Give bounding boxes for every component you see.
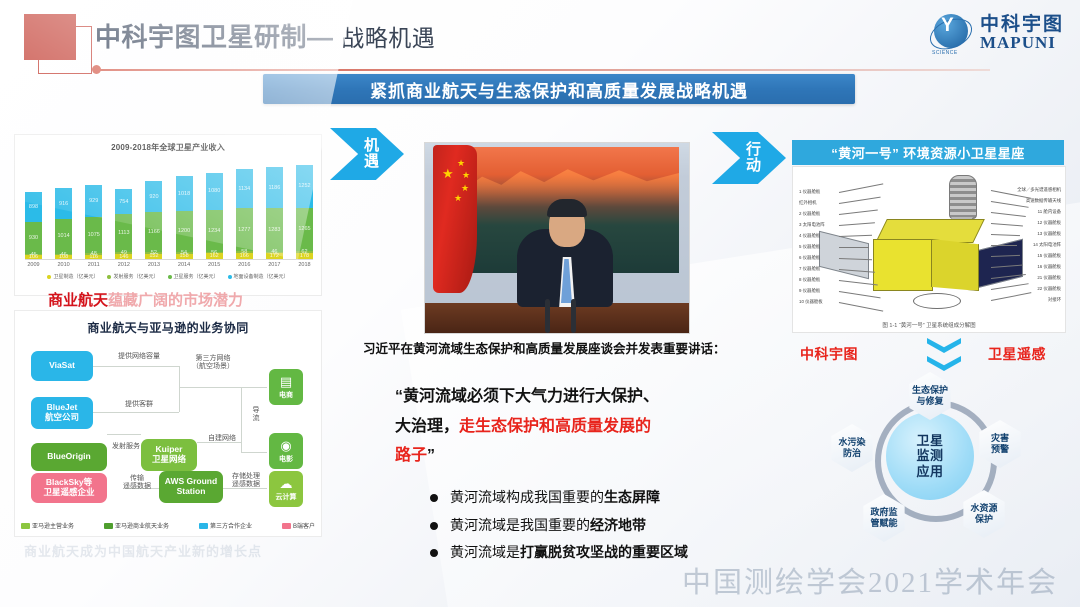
- chart-bar: 1018120054158: [176, 176, 193, 259]
- biz-connector: [179, 387, 241, 388]
- solar-panel-left: [819, 231, 869, 279]
- satellite-body-assembly: [865, 219, 993, 293]
- chart-bar-segment: 166: [236, 253, 253, 259]
- biz-connector: [179, 366, 180, 412]
- chart-legend-item: 卫星服务（亿美元）: [168, 273, 219, 280]
- chart-legend-item: 卫星制造（亿美元）: [47, 273, 98, 280]
- satellite-leader-line: [839, 210, 878, 215]
- chart-bar-segment: 1200: [176, 211, 193, 252]
- biz-legend-swatch: [104, 523, 113, 529]
- node-bluejet-label: BlueJet航空公司: [45, 403, 79, 423]
- chart-x-tick: 2012: [115, 262, 132, 268]
- biz-connector: [241, 452, 267, 453]
- biz-legend-label: 第三方合作企业: [210, 521, 252, 530]
- quote-line-3-tail: ”: [427, 447, 435, 464]
- chart-bar-segment: 1277: [236, 208, 253, 252]
- chart-bar: 1186128346172: [266, 167, 283, 259]
- ghost-caption-left: 商业航天成为中国航天产业新的增长点: [24, 541, 262, 560]
- satellite-leader-line: [991, 212, 1026, 217]
- satellite-callout-label: 4 仪器舱板: [799, 233, 820, 239]
- biz-diagram-legend: 亚马逊主营业务亚马逊商业航天业务第三方合作企业B端客户: [21, 521, 315, 530]
- satellite-callout-label: 15 仪器舱板: [1037, 253, 1061, 259]
- quote-line-3: 路子”: [395, 441, 747, 471]
- edge-label-traffic-diversion: 导流: [247, 407, 265, 424]
- chart-value-label: 1252: [296, 183, 313, 189]
- film-reel-icon: ◉: [280, 439, 291, 452]
- satellite-leader-line: [839, 247, 869, 248]
- node-blueorigin-label: BlueOrigin: [47, 452, 90, 462]
- chart-legend: 卫星制造（亿美元）发射服务（亿美元）卫星服务（亿美元）地面设备制造（亿美元）: [15, 273, 321, 280]
- satellite-callout-label: 12 仪器舱板: [1037, 220, 1061, 226]
- chart-value-label: 754: [115, 199, 132, 205]
- edge-label-third-party-network: 第三方网络（航空场景）: [183, 355, 243, 372]
- key-point-bold: 生态屏障: [604, 489, 660, 505]
- chart-bar-segment: 108: [55, 255, 72, 259]
- satellite-figure-caption: 图 1-1 “黄河一号” 卫星系统组成分解图: [793, 321, 1065, 329]
- satellite-callout-label: 2 仪器舱板: [799, 211, 820, 217]
- chevron-down-icon: [927, 338, 961, 353]
- chart-title: 2009-2018年全球卫星产业收入: [15, 142, 321, 153]
- header-decorative-mark: [24, 14, 98, 70]
- quote-line-2: 大治理，走生态保护和高质量发展的: [395, 412, 747, 442]
- output-cloud: ☁ 云计算: [269, 471, 303, 507]
- chart-legend-swatch: [228, 275, 232, 279]
- chart-value-label: 172: [266, 253, 283, 259]
- china-flag-icon: ★ ★ ★ ★ ★: [433, 145, 477, 293]
- chart-value-label: 1200: [176, 228, 193, 234]
- biz-legend-label: 亚马逊主营业务: [32, 521, 74, 530]
- node-bluejet: BlueJet航空公司: [31, 397, 93, 429]
- chart-bar: 1134127758166: [236, 169, 253, 259]
- chart-value-label: 1277: [236, 227, 253, 233]
- chart-bar-segment: 1134: [236, 169, 253, 208]
- flag-star-small: ★: [462, 171, 470, 180]
- chart-legend-label: 卫星制造（亿美元）: [53, 273, 98, 280]
- biz-connector: [93, 366, 179, 367]
- chevron-opportunity-icon: 机遇: [330, 128, 404, 180]
- hex-gov-label: 政府监管赋能: [870, 507, 897, 529]
- chart-bar-segment: 146: [115, 254, 132, 259]
- satellite-callout-label: 8 仪器舱板: [799, 277, 820, 283]
- biz-connector: [241, 387, 267, 388]
- tagline-strong: 商业航天: [48, 292, 108, 309]
- chart-value-label: 1265: [296, 226, 313, 232]
- output-movie: ◉ 电影: [269, 433, 303, 469]
- section-banner: 紧抓商业航天与生态保护和高质量发展战略机遇: [263, 74, 855, 104]
- satellite-callout-label: 9 仪器舱板: [799, 288, 820, 294]
- conference-watermark: 中国测绘学会2021学术年会: [682, 559, 1058, 601]
- header-rule: [95, 69, 990, 71]
- hex-node-water-pollution: 水污染防治: [828, 424, 876, 472]
- logo-badge-science-text: SCIENCE: [932, 50, 958, 56]
- chart-bar: 920116652152: [145, 181, 162, 259]
- docking-ring: [913, 293, 961, 309]
- globe-icon: Y SCIENCE: [928, 10, 974, 56]
- chart-bar: 1080123456162: [206, 173, 223, 259]
- edge-label-transmit-data: 传输遥感数据: [115, 475, 159, 492]
- chart-bar-segment: 1283: [266, 208, 283, 252]
- biz-legend-item: 亚马逊主营业务: [21, 521, 74, 530]
- chevron-action-icon: 行动: [712, 132, 786, 184]
- chart-bar-segment: 1075: [85, 217, 102, 254]
- chart-bar-segment: 172: [266, 253, 283, 259]
- chart-value-label: 162: [206, 253, 223, 259]
- chart-x-tick: 2014: [176, 262, 193, 268]
- circle-hub: 卫星监测应用: [886, 412, 974, 500]
- flag-star-small: ★: [454, 194, 462, 203]
- chart-value-label: 1080: [206, 188, 223, 194]
- flag-star-small: ★: [457, 159, 465, 168]
- satellite-side-panel: [931, 239, 979, 291]
- chart-bar: 916101446108: [55, 188, 72, 259]
- chart-value-label: 1186: [266, 185, 283, 191]
- chart-bar-segment: 116: [85, 255, 102, 259]
- speech-intro-text: 习近平在黄河流域生态保护和高质量发展座谈会并发表重要讲话：: [363, 340, 741, 358]
- chart-value-label: 1234: [206, 228, 223, 234]
- node-kuiper-label: Kuiper卫星网络: [152, 445, 186, 465]
- chart-bar-segment: 1018: [176, 176, 193, 211]
- biz-connector: [93, 412, 179, 413]
- chart-x-tick: 2016: [236, 262, 253, 268]
- satellite-callout-label: 红外相机: [799, 200, 817, 206]
- key-point-bold: 打赢脱贫攻坚战的重要区域: [520, 544, 688, 560]
- satellite-exploded-diagram: 1 仪器舱板红外相机2 仪器舱板3 太阳电池阵4 仪器舱板5 仪器舱板6 仪器舱…: [792, 166, 1066, 333]
- node-blacksky-label: BlackSky等卫星遥感企业: [43, 478, 94, 498]
- node-aws-ground-station: AWS GroundStation: [159, 471, 223, 503]
- biz-legend-label: B端客户: [293, 521, 315, 530]
- chart-bar-segment: 158: [176, 254, 193, 259]
- logo-name-cn: 中科宇图: [980, 15, 1064, 34]
- solar-panel-right: [973, 239, 1023, 289]
- header-mark-outline: [38, 26, 92, 74]
- satellite-constellation-banner: “黄河一号” 环境资源小卫星星座: [792, 140, 1064, 165]
- satellite-callout-label: 22 仪器舱板: [1037, 286, 1061, 292]
- key-point-plain: 黄河流域构成我国重要的: [450, 489, 604, 505]
- chart-value-label: 178: [296, 253, 313, 259]
- quote-line-2-highlight: 走生态保护和高质量发展的: [459, 418, 651, 435]
- page-title: 中科宇图卫星研制— 战略机遇: [95, 17, 435, 54]
- edge-label-customer-base: 提供客群: [107, 401, 171, 409]
- biz-legend-swatch: [21, 523, 30, 529]
- brand-logo: Y SCIENCE 中科宇图 MAPUNI: [928, 10, 1064, 56]
- satellite-callout-label: 5 仪器舱板: [799, 244, 820, 250]
- chart-bar-segment: 1186: [266, 167, 283, 207]
- chart-bar-segment: 1265: [296, 208, 313, 251]
- chart-bar-segment: 930: [25, 222, 42, 254]
- quote-line-3-highlight: 路子: [395, 447, 427, 464]
- chart-legend-label: 发射服务（亿美元）: [113, 273, 158, 280]
- chart-x-tick: 2017: [266, 262, 283, 268]
- chart-value-label: 166: [236, 253, 253, 259]
- biz-legend-swatch: [282, 523, 291, 529]
- node-blacksky: BlackSky等卫星遥感企业: [31, 473, 107, 503]
- biz-legend-item: B端客户: [282, 521, 315, 530]
- edge-label-network-capacity: 提供网络容量: [103, 353, 175, 361]
- chart-value-label: 1134: [236, 186, 253, 192]
- chart-value-label: 108: [55, 254, 72, 260]
- circle-hub-label: 卫星监测应用: [916, 433, 943, 479]
- chart-legend-swatch: [107, 275, 111, 279]
- ecommerce-icon: ▤: [280, 375, 292, 388]
- microphone-icon: [571, 299, 576, 333]
- commercial-space-tagline: 商业航天蕴藏广阔的市场潜力: [48, 289, 318, 310]
- flag-star-large: ★: [442, 167, 454, 180]
- chart-bar: 1252126562178: [296, 165, 313, 259]
- output-ecommerce-label: 电商: [279, 390, 293, 400]
- node-kuiper: Kuiper卫星网络: [141, 439, 197, 471]
- chart-bar-segment: 1234: [206, 210, 223, 252]
- satellite-leader-line: [991, 201, 1029, 207]
- satellite-callout-label: 16 仪器舱板: [1037, 264, 1061, 270]
- edge-label-store-process-data: 存储处理遥感数据: [223, 473, 269, 490]
- chart-x-tick: 2018: [296, 262, 313, 268]
- satellite-leader-line: [991, 223, 1023, 226]
- node-viasat-label: ViaSat: [49, 361, 75, 371]
- quote-line-1: “黄河流域必须下大气力进行大保护、: [395, 382, 747, 412]
- amazon-synergy-diagram: 商业航天与亚马逊的业务协同 ViaSat BlueJet航空公司 BlueOri…: [14, 310, 322, 537]
- chart-value-label: 920: [145, 194, 162, 200]
- chart-bar-segment: 1014: [55, 219, 72, 254]
- chart-bar-segment: 920: [145, 181, 162, 212]
- biz-legend-item: 亚马逊商业航天业务: [104, 521, 169, 530]
- chart-value-label: 1014: [55, 233, 72, 239]
- chart-value-label: 1018: [176, 191, 193, 197]
- satellite-callout-label: 6 仪器舱板: [799, 255, 820, 261]
- tagline-faded: 蕴藏广阔的市场潜力: [108, 292, 243, 309]
- chart-value-label: 1166: [145, 229, 162, 235]
- output-movie-label: 电影: [279, 454, 293, 464]
- chart-bar-segment: 1113: [115, 214, 132, 252]
- chart-bar-segment: 898: [25, 192, 42, 223]
- chart-legend-label: 卫星服务（亿美元）: [174, 273, 219, 280]
- logo-wordmark: 中科宇图 MAPUNI: [980, 15, 1064, 52]
- chart-legend-item: 发射服务（亿美元）: [107, 273, 158, 280]
- chart-x-tick: 2009: [25, 262, 42, 268]
- chart-value-label: 930: [25, 235, 42, 241]
- satellite-leader-line: [839, 183, 883, 192]
- tag-company: 中科宇图: [800, 344, 858, 364]
- chart-x-tick: 2013: [145, 262, 162, 268]
- key-point-item: 黄河流域是我国重要的经济地带: [428, 517, 788, 535]
- edge-label-self-built-network: 自建网络: [201, 435, 243, 443]
- satellite-callout-label: 21 仪器舱板: [1037, 275, 1061, 281]
- chart-value-label: 1283: [266, 227, 283, 233]
- chart-bar: 754111349146: [115, 189, 132, 259]
- satellite-leader-line: [991, 245, 1017, 246]
- chart-value-label: 116: [85, 254, 102, 260]
- satellite-callout-label: 对接环: [1048, 297, 1061, 303]
- biz-connector: [107, 434, 141, 435]
- chart-bar-segment: 754: [115, 189, 132, 215]
- satellite-callout-label: 14 太阳电池阵: [1033, 242, 1061, 248]
- chart-value-label: 916: [55, 201, 72, 207]
- antenna-icon: [949, 175, 977, 219]
- output-ecommerce: ▤ 电商: [269, 369, 303, 405]
- satellite-callout-label: 1 仪器舱板: [799, 189, 820, 195]
- satellite-leader-line: [839, 197, 881, 204]
- chart-x-axis: 2009201020112012201320142015201620172018: [25, 262, 313, 268]
- chart-x-tick: 2011: [85, 262, 102, 268]
- satellite-callout-label: 高速数据传输天线: [1026, 198, 1061, 204]
- chart-bar: 929107548116: [85, 185, 102, 259]
- hex-pollution-label: 水污染防治: [838, 437, 865, 459]
- edge-label-launch-service: 发射服务: [109, 443, 143, 451]
- hex-water-label: 水资源保护: [970, 503, 997, 525]
- key-point-bold: 经济地带: [590, 517, 646, 533]
- biz-legend-item: 第三方合作企业: [199, 521, 252, 530]
- chart-legend-swatch: [168, 275, 172, 279]
- output-cloud-label: 云计算: [276, 492, 297, 502]
- chart-bar-segment: 1252: [296, 165, 313, 208]
- chevron-down-icon: [927, 356, 961, 371]
- chevron-action-label: 行动: [746, 142, 762, 174]
- cloud-icon: ☁: [280, 477, 293, 490]
- chart-value-label: 158: [176, 253, 193, 259]
- node-blueorigin: BlueOrigin: [31, 443, 107, 471]
- speech-photo: ★ ★ ★ ★ ★: [424, 142, 690, 334]
- chart-x-tick: 2010: [55, 262, 72, 268]
- chart-bar-segment: 178: [296, 253, 313, 259]
- satellite-callout-label: 全球／多光谱遥感相机: [1017, 187, 1061, 193]
- chart-value-label: 146: [115, 254, 132, 260]
- speech-quote: “黄河流域必须下大气力进行大保护、 大治理，走生态保护和高质量发展的 路子”: [395, 382, 747, 471]
- chart-value-label: 1113: [115, 230, 132, 236]
- chart-bar-segment: 106: [25, 255, 42, 259]
- satellite-callout-label: 3 太阳电池阵: [799, 222, 825, 228]
- photo-desk: [425, 303, 689, 333]
- satellite-callout-label: 13 仪器舱板: [1037, 231, 1061, 237]
- key-point-plain: 黄河流域是: [450, 544, 520, 560]
- chart-plot-area: 8989304510691610144610892910754811675411…: [25, 159, 313, 260]
- chart-legend-item: 地面设备制造（亿美元）: [228, 273, 289, 280]
- hex-eco-label: 生态保护与修复: [912, 385, 948, 407]
- chart-value-label: 1075: [85, 232, 102, 238]
- satellite-front-panel: [873, 239, 933, 291]
- satellite-callout-label: 11 舱内设备: [1038, 209, 1061, 215]
- chart-legend-label: 地面设备制造（亿美元）: [234, 273, 289, 280]
- satellite-leader-line: [839, 302, 883, 311]
- chevron-opportunity-label: 机遇: [364, 138, 380, 170]
- chart-bar-segment: 162: [206, 253, 223, 259]
- node-aws-label: AWS GroundStation: [165, 477, 217, 497]
- satellite-revenue-chart: 2009-2018年全球卫星产业收入 898930451069161014461…: [14, 134, 322, 296]
- chart-value-label: 898: [25, 204, 42, 210]
- photo-speaker-hair: [547, 199, 587, 217]
- chart-bar-segment: 152: [145, 254, 162, 259]
- chart-bar-segment: 1080: [206, 173, 223, 210]
- key-point-plain: 黄河流域是我国重要的: [450, 517, 590, 533]
- flag-star-small: ★: [461, 184, 469, 193]
- chart-bar-segment: 1166: [145, 212, 162, 252]
- page-title-main: 中科宇图卫星研制—: [95, 22, 334, 52]
- chart-bar-segment: 929: [85, 185, 102, 217]
- chart-value-label: 152: [145, 253, 162, 259]
- logo-badge-letter: Y: [941, 16, 954, 35]
- hex-disaster-label: 灾害预警: [991, 433, 1009, 455]
- satellite-leader-line: [991, 283, 1029, 289]
- application-circle-diagram: 卫星监测应用 生态保护与修复 灾害预警 水资源保护 政府监管赋能 水污染防治: [790, 386, 1070, 566]
- key-point-item: 黄河流域构成我国重要的生态屏障: [428, 489, 788, 507]
- chart-legend-swatch: [47, 275, 51, 279]
- double-chevron-down-icon: [925, 338, 963, 378]
- biz-legend-swatch: [199, 523, 208, 529]
- microphone-icon: [545, 299, 550, 333]
- satellite-leader-line: [991, 234, 1020, 236]
- chart-bar: 89893045106: [25, 192, 42, 259]
- slide-root: 中科宇图卫星研制— 战略机遇 Y SCIENCE 中科宇图 MAPUNI 紧抓商…: [0, 0, 1080, 607]
- biz-diagram-title: 商业航天与亚马逊的业务协同: [15, 319, 321, 336]
- page-title-sub: 战略机遇: [341, 25, 435, 51]
- satellite-callout-label: 10 仪器舱板: [799, 299, 823, 305]
- satellite-callout-label: 7 仪器舱板: [799, 266, 820, 272]
- logo-name-en: MAPUNI: [980, 34, 1064, 51]
- tag-remote-sensing: 卫星遥感: [988, 344, 1046, 364]
- node-viasat: ViaSat: [31, 351, 93, 381]
- chart-bar-segment: 916: [55, 188, 72, 219]
- chart-x-tick: 2015: [206, 262, 223, 268]
- chart-value-label: 106: [25, 254, 42, 260]
- satellite-leader-line: [991, 292, 1031, 300]
- biz-legend-label: 亚马逊商业航天业务: [115, 521, 169, 530]
- chart-value-label: 929: [85, 198, 102, 204]
- quote-line-2-plain: 大治理，: [395, 418, 459, 435]
